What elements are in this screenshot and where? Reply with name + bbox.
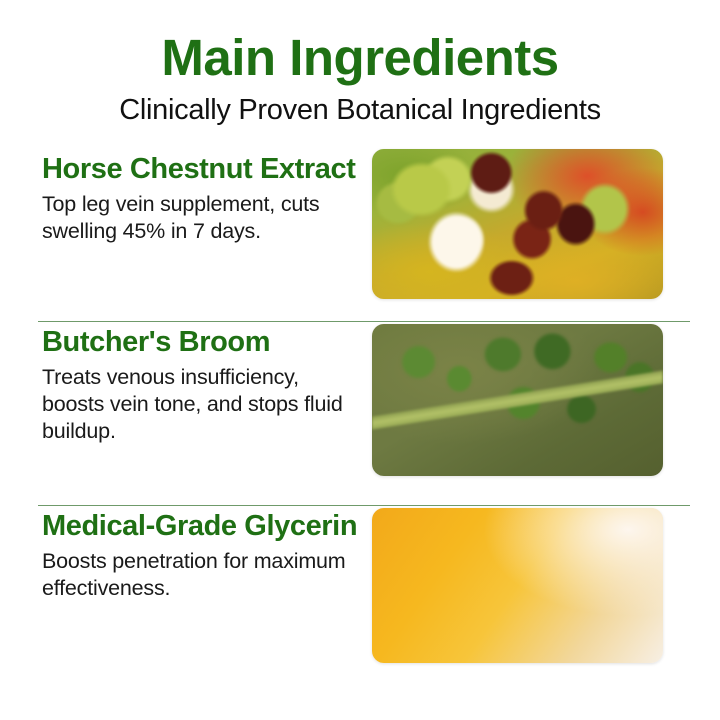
ingredient-text-block: Horse Chestnut Extract Top leg vein supp… [42, 149, 372, 245]
glycerin-oil-bubbles-photo [372, 508, 663, 663]
ingredient-text-block: Medical-Grade Glycerin Boosts penetratio… [42, 506, 372, 602]
ingredient-title: Medical-Grade Glycerin [42, 510, 360, 542]
ingredient-item-horse-chestnut: Horse Chestnut Extract Top leg vein supp… [0, 149, 720, 321]
butchers-broom-berries-photo [372, 324, 663, 476]
horse-chestnut-photo [372, 149, 663, 299]
page-header: Main Ingredients Clinically Proven Botan… [0, 0, 720, 127]
ingredient-description: Top leg vein supplement, cuts swelling 4… [42, 191, 360, 246]
ingredient-title: Horse Chestnut Extract [42, 153, 360, 185]
page-subtitle: Clinically Proven Botanical Ingredients [0, 94, 720, 127]
ingredient-description: Boosts penetration for maximum effective… [42, 548, 360, 603]
butchers-broom-image [372, 324, 663, 476]
horse-chestnut-image [372, 149, 663, 299]
glycerin-image [372, 508, 663, 663]
ingredient-title: Butcher's Broom [42, 326, 360, 358]
ingredient-item-medical-grade-glycerin: Medical-Grade Glycerin Boosts penetratio… [0, 506, 720, 682]
ingredient-item-butchers-broom: Butcher's Broom Treats venous insufficie… [0, 322, 720, 505]
ingredient-description: Treats venous insufficiency, boosts vein… [42, 364, 360, 446]
page-title: Main Ingredients [0, 30, 720, 85]
ingredients-page: Main Ingredients Clinically Proven Botan… [0, 0, 720, 720]
ingredients-list: Horse Chestnut Extract Top leg vein supp… [0, 149, 720, 682]
ingredient-text-block: Butcher's Broom Treats venous insufficie… [42, 322, 372, 445]
